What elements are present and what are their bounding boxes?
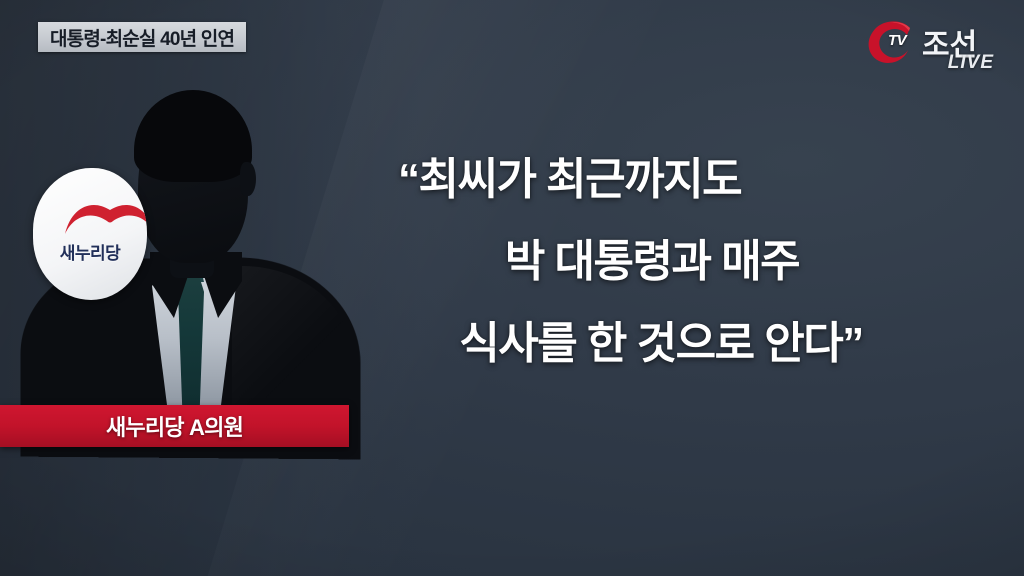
- topic-chip: 대통령-최순실 40년 인연: [38, 22, 246, 52]
- ear-silhouette: [240, 162, 256, 196]
- quote-line-1: “최씨가 최근까지도: [398, 158, 912, 202]
- speaker-name-label: 새누리당 A의원: [106, 410, 243, 442]
- party-logo-badge: 새누리당: [33, 168, 147, 300]
- channel-logo: TV 조선 LIVE: [864, 14, 996, 76]
- quote-block: “최씨가 최근까지도 박 대통령과 매주 식사를 한 것으로 안다”: [392, 158, 912, 366]
- broadcast-frame: 새누리당 대통령-최순실 40년 인연 TV 조선 LIVE “최씨가 최근까지…: [0, 0, 1024, 576]
- quote-line-3: 식사를 한 것으로 안다”: [410, 322, 912, 366]
- topic-chip-label: 대통령-최순실 40년 인연: [50, 24, 234, 51]
- speaker-name-banner: 새누리당 A의원: [0, 405, 349, 447]
- party-wing-mark: [61, 194, 147, 242]
- live-indicator: LIVE: [948, 52, 994, 74]
- channel-logo-mark-text: TV: [888, 32, 906, 49]
- party-badge-label: 새누리당: [60, 239, 121, 264]
- quote-line-2: 박 대통령과 매주: [392, 240, 912, 284]
- hair-silhouette: [134, 90, 252, 182]
